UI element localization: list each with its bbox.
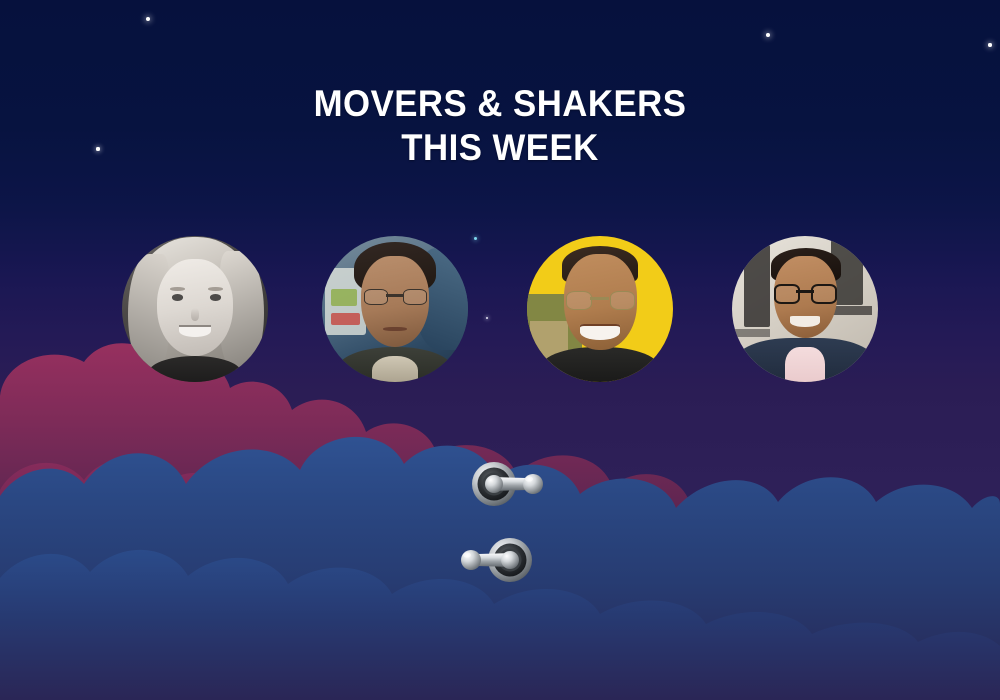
- background-green: [331, 289, 357, 307]
- eye-right: [210, 294, 222, 301]
- star-3: [766, 33, 770, 37]
- mouth-shape: [383, 327, 406, 331]
- mural-mark-4: [735, 329, 770, 336]
- background-red: [331, 313, 360, 325]
- brow-left: [170, 287, 185, 291]
- avatar-3-photo: [527, 236, 673, 382]
- poster-title: MOVERS & SHAKERS THIS WEEK: [30, 82, 970, 170]
- eyeglass-left: [364, 289, 388, 306]
- eye-left: [172, 294, 184, 301]
- eyeglass-right: [403, 289, 427, 306]
- mouth-shape: [580, 324, 621, 340]
- star-4: [988, 43, 991, 46]
- title-line-1: MOVERS & SHAKERS: [30, 82, 970, 126]
- nose-shape: [191, 308, 200, 321]
- collar: [372, 356, 419, 382]
- avatar-2[interactable]: [322, 236, 468, 382]
- eyeglass-right: [610, 291, 635, 309]
- star-1: [146, 17, 150, 21]
- mouth-shape: [790, 316, 819, 326]
- poster-canvas: MOVERS & SHAKERS THIS WEEK: [0, 0, 1000, 700]
- avatar-1-photo: [122, 236, 268, 382]
- shirt: [539, 347, 662, 382]
- eyeglass-left: [566, 291, 591, 309]
- eyeglass-right: [811, 284, 837, 304]
- avatar-1[interactable]: [122, 236, 268, 382]
- eyeglass-bridge: [590, 297, 609, 299]
- avatar-2-photo: [322, 236, 468, 382]
- brow-right: [208, 287, 223, 291]
- eyeglass-left: [774, 284, 800, 304]
- eyeglass-bridge: [796, 290, 814, 293]
- avatar-4[interactable]: [732, 236, 878, 382]
- toggle-switch-top[interactable]: [466, 457, 552, 513]
- avatar-row: [0, 236, 1000, 382]
- dress-shirt: [785, 347, 826, 382]
- avatar-3[interactable]: [527, 236, 673, 382]
- avatar-4-photo: [732, 236, 878, 382]
- mural-mark-1: [744, 245, 770, 327]
- eyeglass-bridge: [386, 294, 404, 296]
- toggle-switch-bottom[interactable]: [452, 531, 538, 587]
- title-line-2: THIS WEEK: [30, 126, 970, 170]
